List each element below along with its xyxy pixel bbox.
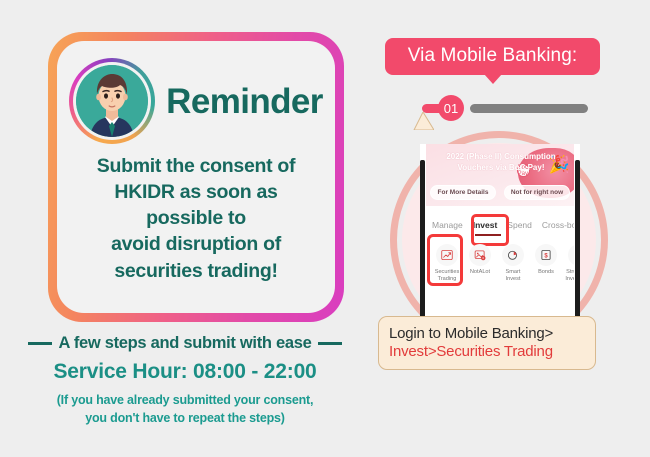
- reminder-body-line: possible to: [73, 205, 319, 231]
- grid-item-notalot[interactable]: 0 NotALot: [465, 244, 495, 283]
- not-for-right-now-button[interactable]: Not for right now: [504, 185, 570, 200]
- reminder-header: Reminder: [57, 41, 335, 144]
- grid-label-notalot: NotALot: [465, 269, 495, 276]
- grid-item-bonds[interactable]: $ Bonds: [531, 244, 561, 283]
- tab-cross-border[interactable]: Cross-border: [542, 220, 574, 236]
- consent-note-line: (If you have already submitted your cons…: [12, 392, 358, 410]
- promo-button-row: For More Details Not for right now: [430, 185, 570, 200]
- phone-mockup: 🎉 BoC Pay 2022 (Phase II) Consumption Vo…: [420, 144, 580, 324]
- image-badge-icon: 0: [469, 244, 491, 266]
- avatar-gradient-ring: [69, 58, 155, 144]
- promo-text: 2022 (Phase II) Consumption Vouchers via…: [426, 152, 574, 174]
- phone-tab-bar: Manage Invest Spend Cross-border: [426, 206, 574, 236]
- dollar-document-icon: $: [535, 244, 557, 266]
- letter-a-glyph-icon: A: [573, 249, 574, 261]
- callout-line-2: Invest>Securities Trading: [389, 343, 585, 360]
- grid-item-smart-invest[interactable]: Smart Invest: [498, 244, 528, 283]
- promo-text-line: Vouchers via BoC Pay!: [426, 163, 574, 174]
- pie-chart-icon: [502, 244, 524, 266]
- consent-note-line: you don't have to repeat the steps): [12, 410, 358, 428]
- tagline-rule-right: [318, 342, 342, 345]
- avatar-illustration-icon: [76, 65, 148, 137]
- service-hour-text: Service Hour: 08:00 - 22:00: [12, 360, 358, 384]
- screenshot-root: Reminder Submit the consent of HKIDR as …: [0, 0, 650, 457]
- svg-text:$: $: [544, 253, 548, 259]
- callout-pointer-icon: [412, 112, 434, 130]
- phone-screen: 🎉 BoC Pay 2022 (Phase II) Consumption Vo…: [426, 144, 574, 324]
- reminder-body: Submit the consent of HKIDR as soon as p…: [57, 144, 335, 284]
- tab-manage-label: Manage: [432, 220, 463, 230]
- reminder-title: Reminder: [166, 84, 323, 119]
- tab-manage[interactable]: Manage: [432, 220, 463, 236]
- step-progress-bar: 01: [422, 95, 592, 121]
- banner-label: Via Mobile Banking:: [397, 45, 588, 67]
- promo-text-line: 2022 (Phase II) Consumption: [426, 152, 574, 163]
- phone-icon-grid: Securities Trading 0: [426, 236, 574, 283]
- tagline-rule-left: [28, 342, 52, 345]
- consent-note: (If you have already submitted your cons…: [12, 392, 358, 428]
- reminder-body-line: HKIDR as soon as: [73, 179, 319, 205]
- phone-bezel-right: [575, 160, 580, 324]
- reminder-body-line: securities trading!: [73, 258, 319, 284]
- grid-item-securities-trading[interactable]: Securities Trading: [432, 244, 462, 283]
- callout-line-1: Login to Mobile Banking>: [389, 325, 585, 342]
- tab-invest[interactable]: Invest: [473, 220, 498, 236]
- grid-label-securities-trading: Securities Trading: [432, 269, 462, 283]
- phone-bezel-left: [420, 160, 425, 324]
- grid-label-structured-investment: Structured Investment: [564, 269, 574, 283]
- letter-a-icon: A: [568, 244, 574, 266]
- banner-bubble: Via Mobile Banking:: [385, 38, 600, 75]
- grid-item-structured-investment[interactable]: A Structured Investment: [564, 244, 574, 283]
- step-number-badge: 01: [438, 95, 464, 121]
- tagline-text: A few steps and submit with ease: [59, 334, 312, 353]
- tab-cross-border-label: Cross-border: [542, 220, 574, 230]
- chart-trend-glyph-icon: [441, 249, 453, 261]
- chart-trend-icon: [436, 244, 458, 266]
- reminder-card: Reminder Submit the consent of HKIDR as …: [48, 32, 344, 322]
- tab-spend[interactable]: Spend: [507, 220, 532, 236]
- promo-banner: 🎉 BoC Pay 2022 (Phase II) Consumption Vo…: [426, 144, 574, 206]
- tab-invest-label: Invest: [473, 220, 498, 230]
- reminder-body-line: avoid disruption of: [73, 231, 319, 257]
- banner-tail-icon: [484, 74, 502, 84]
- pie-chart-glyph-icon: [507, 249, 519, 261]
- progress-track-remaining: [470, 104, 588, 113]
- instruction-callout: Login to Mobile Banking> Invest>Securiti…: [378, 316, 596, 370]
- grid-label-bonds: Bonds: [531, 269, 561, 276]
- tagline-row: A few steps and submit with ease: [12, 334, 358, 353]
- avatar-ring-inner: [73, 62, 151, 140]
- person-avatar-icon: [76, 65, 148, 137]
- tab-spend-label: Spend: [507, 220, 532, 230]
- mobile-banking-panel: Via Mobile Banking: 01 🎉 BoC Pay: [360, 0, 650, 457]
- for-more-details-button[interactable]: For More Details: [430, 185, 496, 200]
- dollar-document-glyph-icon: $: [540, 249, 552, 261]
- reminder-body-line: Submit the consent of: [73, 153, 319, 179]
- image-badge-glyph-icon: 0: [474, 249, 486, 261]
- phone-mockup-scene: 🎉 BoC Pay 2022 (Phase II) Consumption Vo…: [370, 128, 640, 378]
- grid-label-smart-invest: Smart Invest: [498, 269, 528, 283]
- reminder-panel: Reminder Submit the consent of HKIDR as …: [12, 22, 358, 442]
- via-mobile-banking-banner: Via Mobile Banking:: [385, 38, 600, 75]
- reminder-card-inner: Reminder Submit the consent of HKIDR as …: [57, 41, 335, 313]
